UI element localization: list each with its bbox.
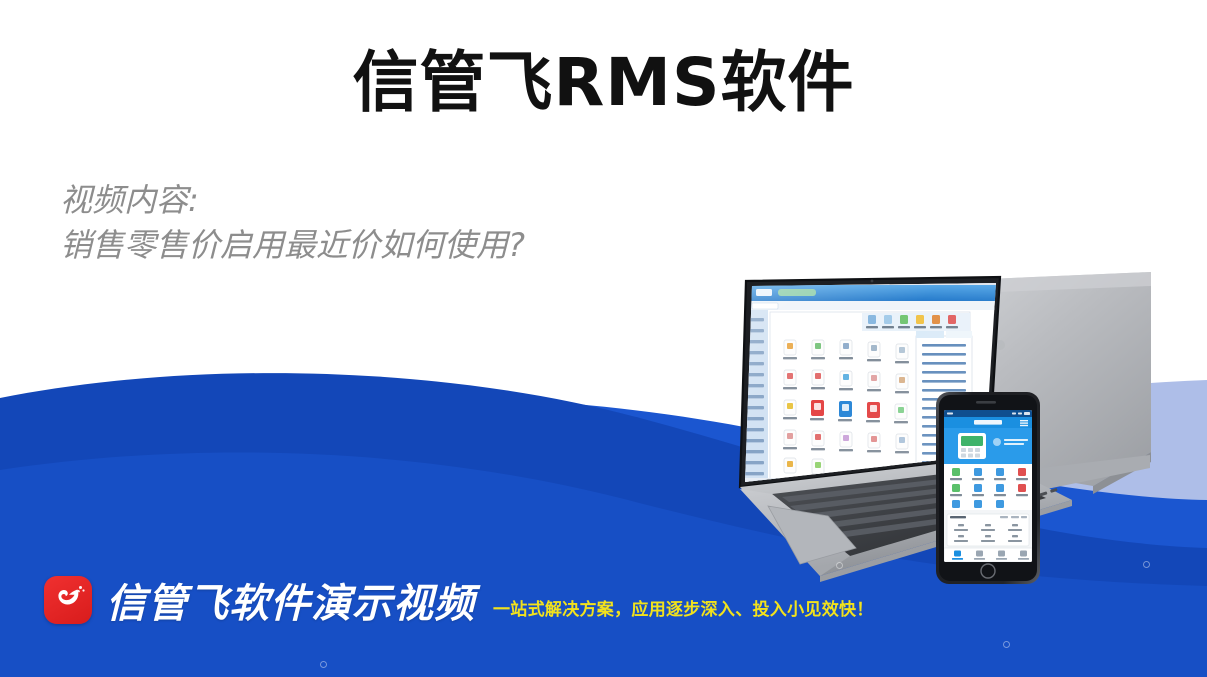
decor-dot — [1003, 641, 1010, 648]
page-title: 信管飞RMS软件 — [0, 46, 1207, 120]
video-content-block: 视频内容: 销售零售价启用最近价如何使用? — [60, 178, 525, 269]
slide-canvas: 信管飞RMS软件 视频内容: 销售零售价启用最近价如何使用? 信管飞软件演示视频… — [0, 0, 1207, 677]
decor-dot — [320, 661, 327, 668]
video-content-label: 视频内容: — [60, 178, 525, 223]
brand-tagline: 一站式解决方案，应用逐步深入、投入小见效快！ — [493, 595, 874, 620]
xinguanfei-bird-logo-icon — [44, 576, 92, 624]
brand-bar: 信管飞软件演示视频 一站式解决方案，应用逐步深入、投入小见效快！ — [44, 571, 874, 629]
video-content-question: 销售零售价启用最近价如何使用? — [60, 223, 525, 268]
decor-dot — [1143, 561, 1150, 568]
page-title-block: 信管飞RMS软件 — [0, 46, 1207, 120]
brand-name: 信管飞软件演示视频 — [106, 571, 475, 629]
decor-dot — [836, 562, 843, 569]
